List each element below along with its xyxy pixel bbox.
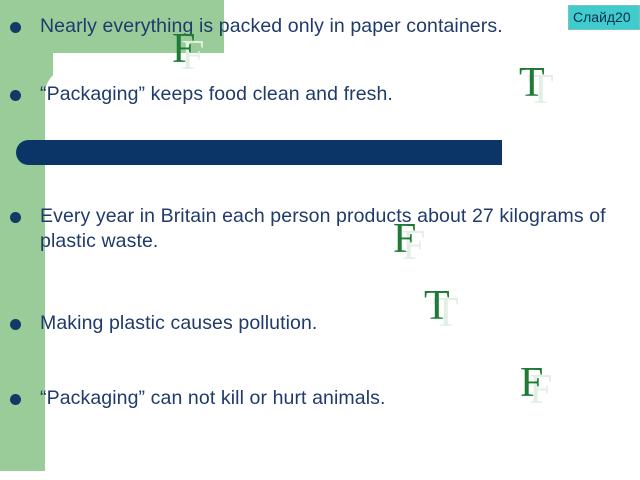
bullet-text: Making plastic causes pollution.	[40, 311, 460, 336]
slide-number-tag: Слайд20	[568, 5, 640, 30]
bullet-text: “Packaging” can not kill or hurt animals…	[40, 386, 560, 411]
bullet-text: Every year in Britain each person produc…	[40, 204, 628, 254]
bullet-dot-icon	[10, 212, 21, 223]
bullet-text: “Packaging” keeps food clean and fresh.	[40, 82, 560, 107]
bullet-dot-icon	[10, 22, 21, 33]
letter-stamp-main: F	[393, 216, 416, 262]
letter-stamp-main: F	[520, 360, 543, 406]
letter-stamp-f-icon: F F	[172, 28, 195, 70]
letter-stamp-f-icon: F F	[520, 362, 543, 404]
letter-stamp-t-icon: T T	[424, 285, 450, 327]
bullet-dot-icon	[10, 319, 21, 330]
bullet-text: Nearly everything is packed only in pape…	[40, 14, 540, 39]
slide-canvas: Слайд20 Nearly everything is packed only…	[0, 0, 640, 480]
letter-stamp-f-icon: F F	[393, 218, 416, 260]
bullet-dot-icon	[10, 90, 21, 101]
letter-stamp-main: T	[424, 283, 450, 329]
bullet-dot-icon	[10, 394, 21, 405]
letter-stamp-main: F	[172, 26, 195, 72]
letter-stamp-t-icon: T T	[519, 62, 545, 104]
letter-stamp-main: T	[519, 60, 545, 106]
